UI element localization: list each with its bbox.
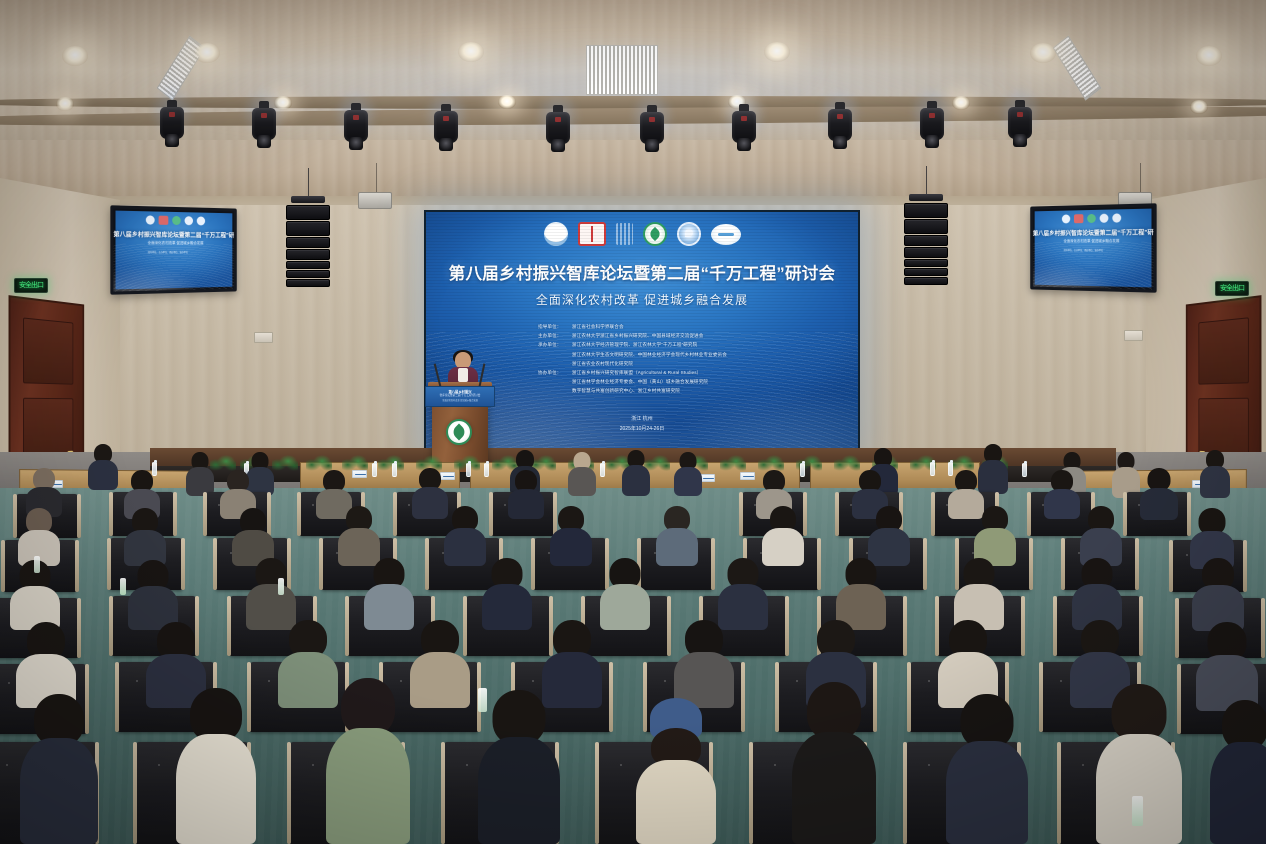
audience-member [1044, 470, 1080, 516]
water-bottle [478, 688, 487, 712]
screen-main-title: 第八届乡村振兴智库论坛暨第二届“千万工程”研讨会 [426, 260, 858, 284]
ceiling-downlight [1196, 46, 1222, 66]
audience-member [1200, 450, 1230, 496]
audience-member [568, 452, 596, 494]
water-bottle [800, 463, 805, 477]
speaker-rigging-frame [909, 194, 943, 201]
green-leaf-circle-logo-icon [1087, 214, 1096, 223]
audience-member [412, 468, 448, 516]
audience-member [482, 558, 532, 624]
audience-member [954, 558, 1004, 624]
audience-member [1210, 700, 1266, 844]
wall-panel-plate [1124, 330, 1143, 341]
stage-moving-head-light [434, 104, 458, 156]
speaker-cabinet [904, 268, 948, 276]
audience-member [20, 694, 98, 844]
organizer-line: 承办单位：浙江农林大学经济管理学院、浙江农林大学“千万工程”研究院 [538, 340, 838, 349]
screen-subtitle: 全面深化农村改革 促进城乡融合发展 [426, 291, 858, 308]
side-monitor-right: 第八届乡村振兴智库论坛暨第二届“千万工程”研讨会 全面深化农村改革 促进城乡融合… [1030, 203, 1156, 292]
audience-member [636, 698, 716, 844]
side-monitor-left-title: 第八届乡村振兴智库论坛暨第二届“千万工程”研讨会 [113, 229, 234, 239]
side-monitor-left: 第八届乡村振兴智库论坛暨第二届“千万工程”研讨会 全面深化农村改革 促进城乡融合… [110, 205, 236, 294]
ceiling-projector [358, 192, 392, 209]
audience-member [364, 558, 414, 624]
wave-circle-logo-icon [544, 222, 568, 246]
ceiling-downlight [1030, 43, 1056, 63]
light-oval-logo-icon [197, 216, 205, 225]
water-bottle [392, 463, 397, 477]
audience-member [246, 558, 296, 624]
side-monitor-right-body: 指导单位、主办单位、承办单位、协办单位 [1064, 250, 1131, 254]
audience-member [718, 558, 768, 624]
audience-member [1192, 558, 1244, 624]
decorative-plant [720, 452, 746, 474]
stage-moving-head-light [252, 101, 276, 153]
audience-member [868, 506, 910, 562]
stage-moving-head-light [1008, 100, 1032, 152]
speaker-cabinet [904, 277, 948, 285]
line-array-speaker-right [904, 194, 948, 286]
projector-hanging-rod [1140, 163, 1141, 195]
speaker-cabinet [904, 203, 948, 218]
water-bottle [930, 462, 935, 476]
audience-member [176, 688, 256, 844]
ceiling-downlight [458, 42, 484, 62]
side-monitor-right-title: 第八届乡村振兴智库论坛暨第二届“千万工程”研讨会 [1033, 227, 1154, 237]
speaker-cabinet [286, 237, 330, 248]
audience-member [88, 444, 118, 488]
audience-member [622, 450, 650, 494]
wave-circle-logo-icon [146, 215, 155, 224]
side-monitor-right-subtitle: 全面深化农村改革 促进城乡融合发展 [1033, 239, 1154, 244]
audience-member [444, 506, 486, 562]
speaker-rigging-frame [291, 196, 325, 203]
speaker-suspension-wire [926, 166, 927, 194]
green-leaf-circle-logo-icon [643, 222, 667, 246]
speaker-suspension-wire [308, 168, 309, 196]
audience-member [938, 620, 998, 702]
audience-member [1112, 452, 1140, 496]
audience-member [550, 506, 592, 562]
podium-banner-line3: 全面深化农村改革 促进城乡融合发展 [442, 399, 478, 403]
water-bottle [278, 578, 284, 595]
organizer-line: 数字智慧与共富创新研究中心、浙江乡村共富研究院 [538, 386, 838, 395]
side-monitor-left-body: 指导单位、主办单位、承办单位、协办单位 [148, 252, 215, 256]
projector-hanging-rod [376, 163, 377, 195]
speaker-cabinet [286, 261, 330, 269]
screen-date: 2025年10月24-26日 [426, 424, 858, 434]
audience-member [124, 508, 166, 562]
water-bottle [1132, 796, 1143, 826]
stage-moving-head-light [160, 100, 184, 152]
audience-member [232, 508, 274, 562]
audience-member [1080, 506, 1122, 562]
audience-member [600, 558, 650, 624]
wall-panel-plate [254, 332, 273, 343]
red-book-logo-icon [159, 216, 169, 225]
audience-member [836, 558, 886, 624]
audience-member [674, 620, 734, 702]
decorative-plant [272, 452, 298, 474]
organizer-line: 指导单位：浙江省社会科学界联合会 [538, 322, 838, 331]
podium-banner: 第八届乡村振兴 智库论坛暨第二届“千万工程”研讨会 全面深化农村改革 促进城乡融… [425, 386, 495, 407]
water-bottle [120, 578, 126, 595]
presenter-shirt [458, 368, 468, 382]
red-book-logo-icon [578, 222, 606, 246]
speaker-cabinet [286, 270, 330, 278]
audience-member [326, 678, 410, 844]
side-monitor-left-subtitle: 全面深化农村改革 促进城乡融合发展 [113, 241, 234, 246]
speaker-cabinet [904, 235, 948, 246]
light-oval-logo-icon [1112, 213, 1121, 222]
screen-footer-block: 浙江 杭州 2025年10月24-26日 [426, 414, 858, 434]
ceiling-downlight [62, 46, 88, 66]
audience-member [410, 620, 470, 702]
water-bottle [600, 463, 605, 477]
table-name-card [700, 474, 715, 482]
speaker-cabinet [286, 279, 330, 287]
audience-member [656, 506, 698, 562]
water-bottle [466, 463, 471, 477]
green-leaf-circle-logo-icon [172, 216, 181, 225]
audience-member [338, 506, 380, 562]
exit-sign-right-label: 安全出口 [1220, 285, 1244, 292]
stage-moving-head-light [640, 105, 664, 157]
speaker-cabinet [286, 205, 330, 220]
main-led-screen: 第八届乡村振兴智库论坛暨第二届“千万工程”研讨会 全面深化农村改革 促进城乡融合… [424, 210, 860, 454]
water-bottle [372, 463, 377, 477]
organizer-line: 浙江省林学会林业经济专委会、中国（黄山）城乡融合发展研究院 [538, 377, 838, 386]
audience-member [508, 470, 544, 516]
speaker-cabinet [904, 259, 948, 267]
audience-member [478, 690, 560, 844]
line-array-speaker-left [286, 196, 330, 288]
screen-organizer-block: 指导单位：浙江省社会科学界联合会 主办单位：浙江农林大学浙江省乡村振兴研究院、中… [538, 322, 838, 396]
organizer-line: 协办单位：浙江省乡村振兴研究智库联盟（Agricultural & Rural … [538, 368, 838, 377]
ceiling-downlight [498, 95, 516, 109]
exit-sign-left: 安全出口 [14, 278, 48, 293]
decorative-plant [378, 452, 404, 474]
stage-moving-head-light [920, 101, 944, 153]
organizer-line: 主办单位：浙江农林大学浙江省乡村振兴研究院、中国县域经济交流促进会 [538, 331, 838, 340]
organizer-line: 浙江省农业农村现代化研究院 [538, 359, 838, 368]
stage-moving-head-light [344, 103, 368, 155]
blue-droplet-circle-logo-icon [185, 216, 193, 225]
side-monitor-left-logo-row [113, 215, 234, 226]
stage-moving-head-light [828, 102, 852, 154]
wave-circle-logo-icon [1062, 214, 1070, 223]
audience-member [674, 452, 702, 494]
barcode-mark-logo-icon [616, 223, 633, 245]
speaker-cabinet [286, 249, 330, 260]
audience-member [128, 560, 178, 624]
table-name-card [352, 470, 367, 478]
exit-sign-left-label: 安全出口 [19, 282, 43, 289]
screen-location: 浙江 杭州 [426, 414, 858, 424]
side-monitor-left-wave [113, 243, 234, 291]
water-bottle [34, 556, 40, 573]
screen-logo-row [426, 222, 858, 246]
audience-member [974, 506, 1016, 562]
ceiling-downlight [56, 97, 74, 111]
stage-moving-head-light [732, 104, 756, 156]
ceiling-downlight [1190, 100, 1208, 114]
audience-member [792, 682, 876, 844]
organizer-line: 浙江农林大学生态文明研究院、中国林业经济学会现代乡村林业专业委员会 [538, 350, 838, 359]
conference-hall-photo: 安全出口 安全出口 [0, 0, 1266, 844]
speaker-cabinet [904, 219, 948, 234]
audience-member [1196, 622, 1258, 704]
ceiling-downlight [764, 42, 790, 62]
table-name-card [740, 472, 755, 480]
side-monitor-right-wave [1033, 241, 1154, 289]
audience-member [946, 694, 1028, 844]
audience-member [16, 622, 76, 702]
audience-member [18, 508, 60, 562]
blue-droplet-circle-logo-icon [1100, 214, 1109, 223]
audience-member [762, 506, 804, 562]
speaker-cabinet [286, 221, 330, 236]
audience-member [186, 452, 214, 494]
audience-member [1140, 468, 1178, 516]
water-bottle [484, 463, 489, 477]
speaker-cabinet [904, 247, 948, 258]
stage-moving-head-light [546, 105, 570, 157]
blue-droplet-circle-logo-icon [677, 222, 701, 246]
side-monitor-right-logo-row [1033, 213, 1154, 224]
audience-member [1072, 558, 1122, 624]
water-bottle [1022, 463, 1027, 477]
exit-sign-right: 安全出口 [1215, 281, 1249, 296]
red-book-logo-icon [1074, 214, 1083, 223]
air-conditioning-vent [586, 45, 658, 95]
light-oval-logo-icon [711, 224, 741, 245]
university-emblem-icon [446, 419, 472, 445]
audience-member [1190, 508, 1234, 564]
ceiling-downlight [194, 43, 220, 63]
